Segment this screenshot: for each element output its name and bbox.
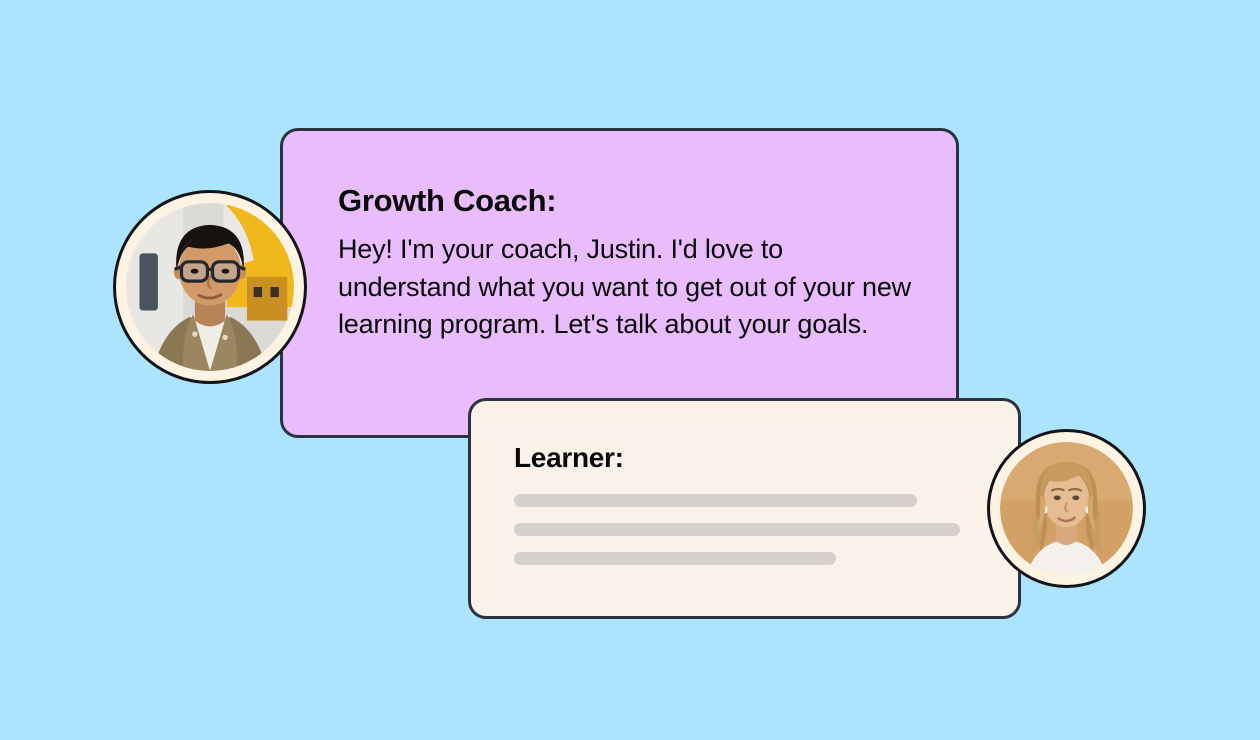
placeholder-line-3 <box>514 552 836 565</box>
learner-message-card: Learner: <box>468 398 1021 619</box>
placeholder-line-2 <box>514 523 960 536</box>
learner-message-placeholder <box>514 494 960 581</box>
conversation-illustration: Growth Coach: Hey! I'm your coach, Justi… <box>0 0 1260 740</box>
learner-avatar <box>987 429 1146 588</box>
coach-message-title: Growth Coach: <box>338 183 556 219</box>
coach-avatar <box>113 190 307 384</box>
learner-avatar-photo <box>1000 442 1133 575</box>
learner-message-title: Learner: <box>514 442 624 474</box>
coach-avatar-photo <box>126 203 294 371</box>
placeholder-line-1 <box>514 494 917 507</box>
coach-message-card: Growth Coach: Hey! I'm your coach, Justi… <box>280 128 959 438</box>
coach-message-body: Hey! I'm your coach, Justin. I'd love to… <box>338 231 918 344</box>
